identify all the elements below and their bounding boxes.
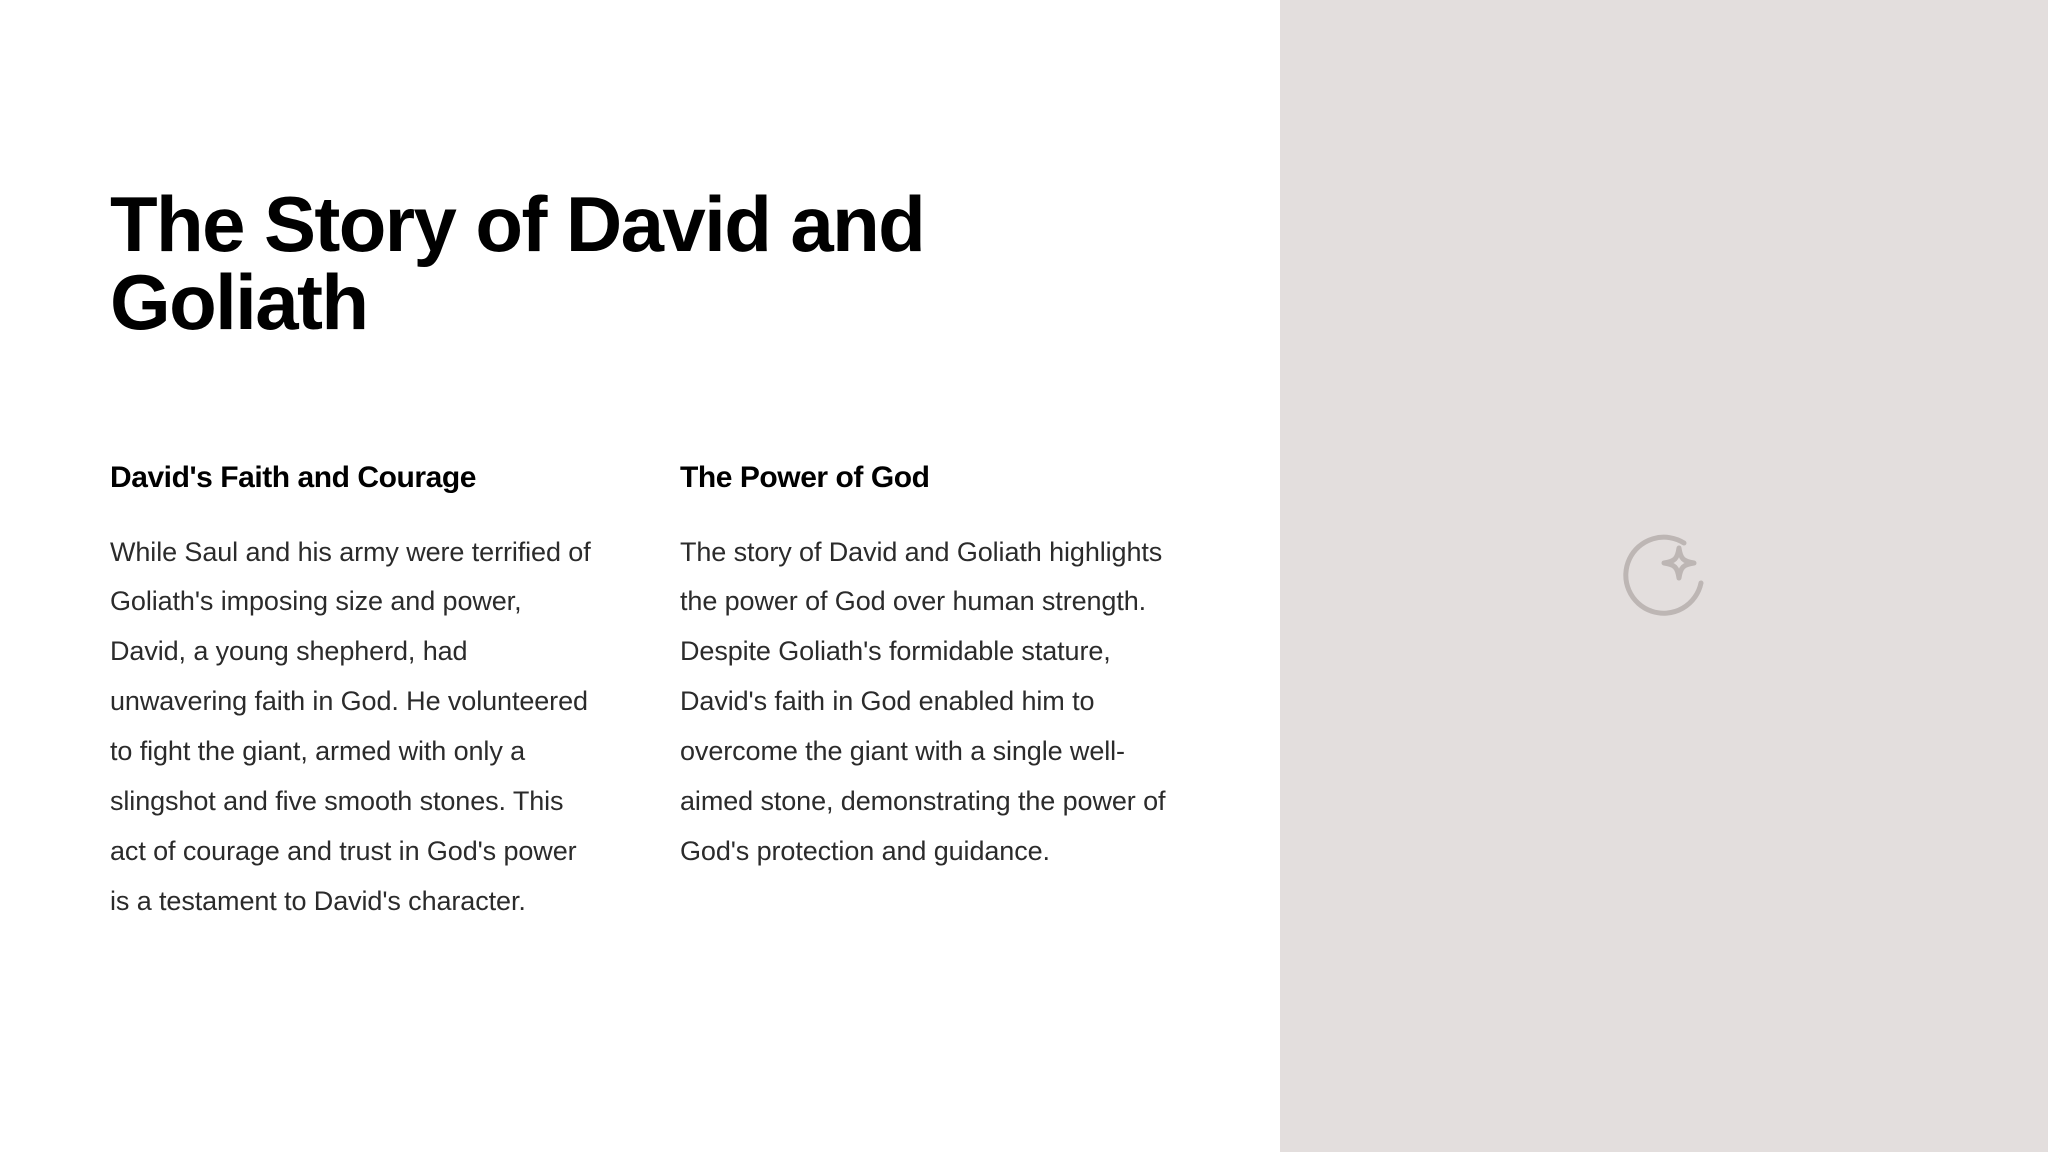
column-body-text: While Saul and his army were terrified o… — [110, 528, 600, 928]
content-pane: The Story of David and Goliath David's F… — [0, 0, 1280, 1152]
column-heading: David's Faith and Courage — [110, 461, 600, 496]
column-the-power-of-god: The Power of God The story of David and … — [680, 461, 1170, 927]
column-body-text: The story of David and Goliath highlight… — [680, 528, 1170, 878]
columns-container: David's Faith and Courage While Saul and… — [110, 461, 1200, 927]
column-heading: The Power of God — [680, 461, 1170, 496]
sparkle-loading-spinner-icon — [1616, 528, 1712, 624]
media-pane — [1280, 0, 2048, 1152]
column-david-faith-and-courage: David's Faith and Courage While Saul and… — [110, 461, 600, 927]
slide-canvas: The Story of David and Goliath David's F… — [0, 0, 2048, 1152]
image-placeholder — [1616, 528, 1712, 624]
page-title: The Story of David and Goliath — [110, 185, 930, 341]
